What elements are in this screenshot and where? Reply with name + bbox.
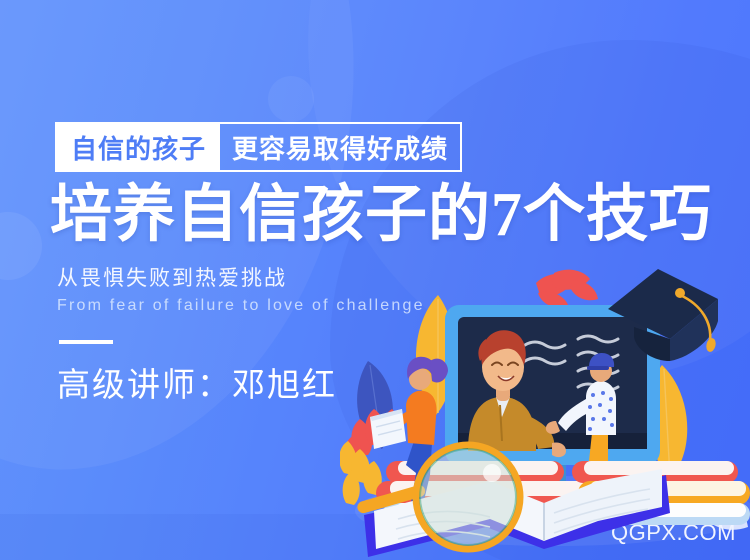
divider-rule [59,340,113,344]
instructor-label: 高级讲师：邓旭红 [57,358,337,406]
poster-canvas: 自信的孩子 更容易取得好成绩 培养自信孩子的7个技巧 从畏惧失败到热爱挑战 Fr… [0,0,750,560]
background-circle-left [0,212,42,280]
subtitle-chinese: 从畏惧失败到热爱挑战 [57,262,287,292]
tagline-highlight: 自信的孩子 [57,124,220,170]
page-title: 培养自信孩子的7个技巧 [50,183,712,248]
background-circle-top [268,76,314,122]
tagline-secondary: 更容易取得好成绩 [220,124,460,170]
tagline-box: 自信的孩子 更容易取得好成绩 [55,122,462,172]
education-illustration [340,265,750,560]
